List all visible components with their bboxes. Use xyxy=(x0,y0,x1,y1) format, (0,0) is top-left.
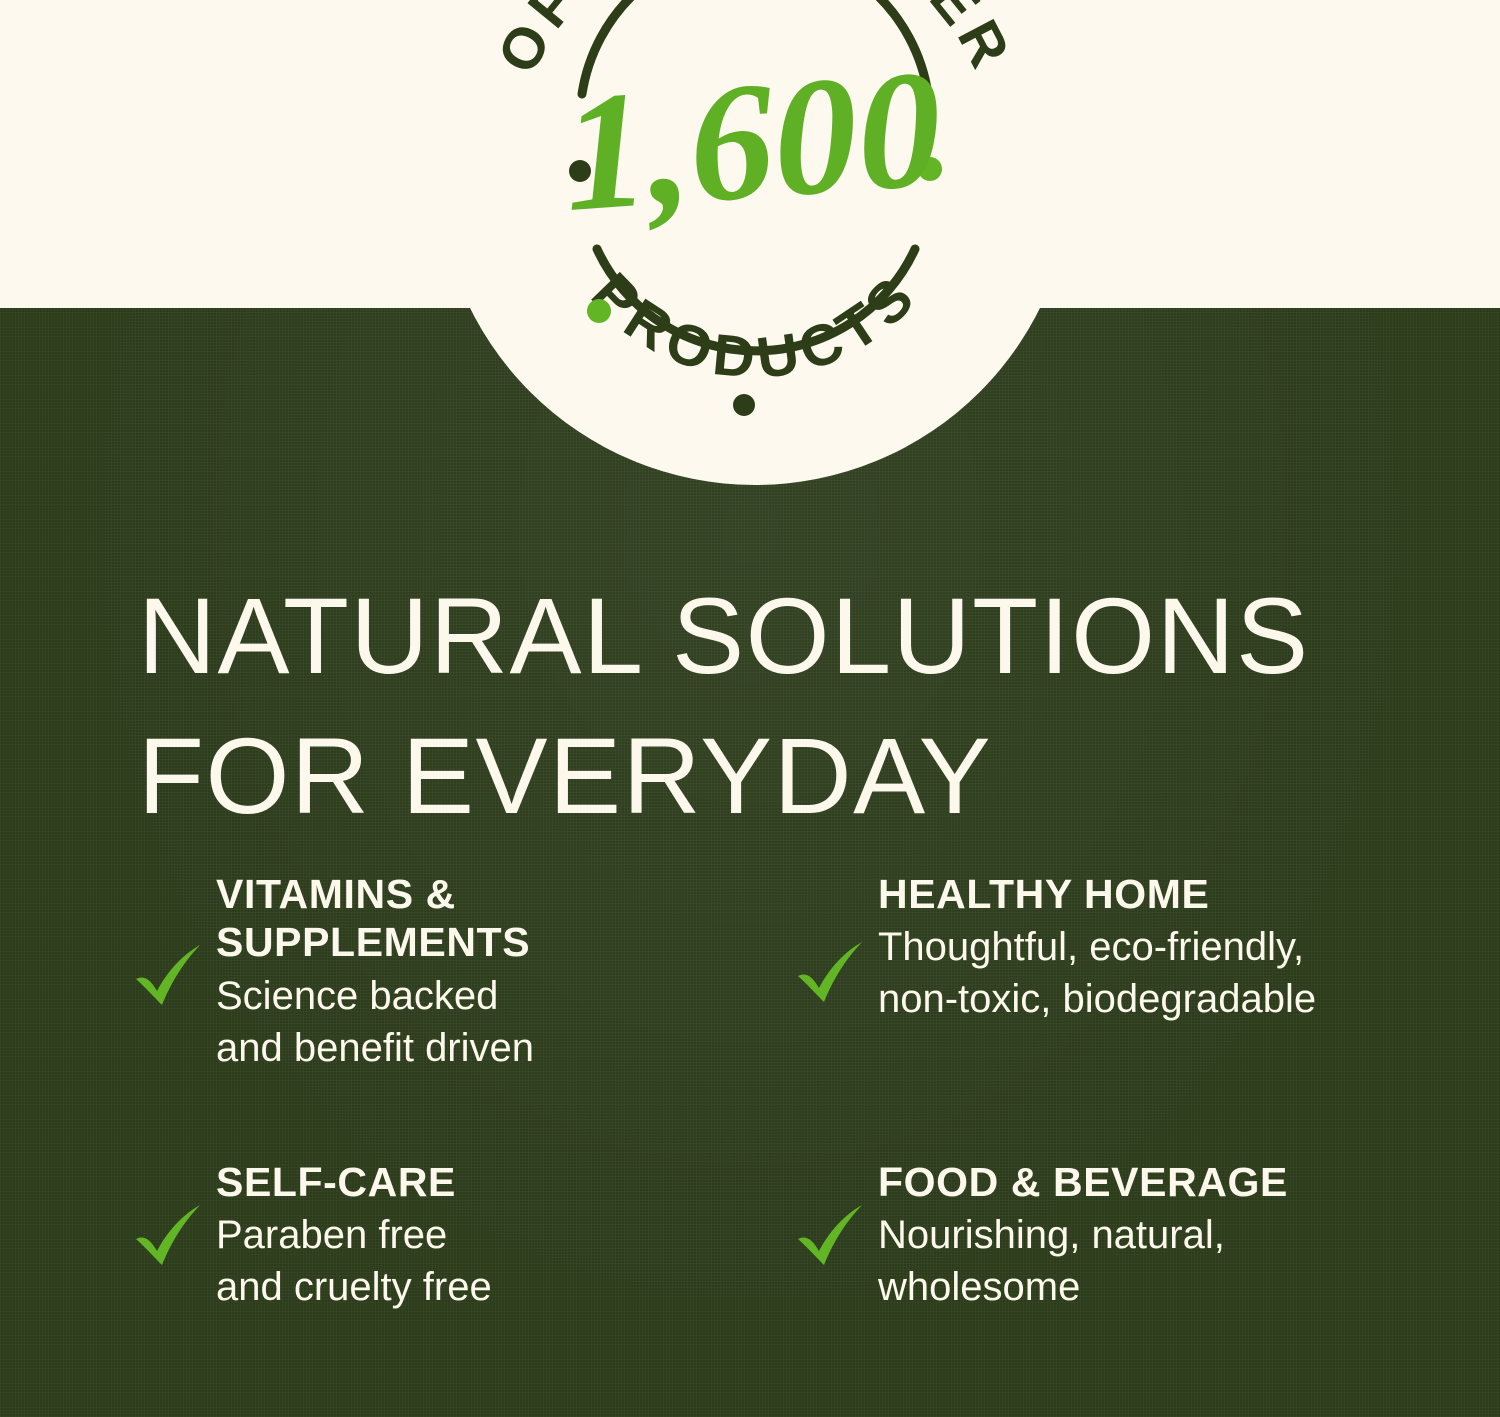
feature-desc-line-1: Paraben free xyxy=(216,1213,447,1257)
feature-title-food-beverage: FOOD & BEVERAGE xyxy=(878,1158,1460,1206)
feature-desc-line-2: and benefit driven xyxy=(216,1026,534,1070)
product-count-badge: OFFERING OVER PRODUCTS 1,600 xyxy=(437,0,1073,485)
feature-desc-food-beverage: Nourishing, natural, wholesome xyxy=(878,1209,1460,1313)
feature-title-line-2: SUPPLEMENTS xyxy=(216,919,530,965)
feature-desc-healthy-home: Thoughtful, eco-friendly, non-toxic, bio… xyxy=(878,921,1460,1025)
feature-desc-line-1: Thoughtful, eco-friendly, xyxy=(878,925,1304,969)
page-title: NATURAL SOLUTIONS FOR EVERYDAY xyxy=(138,566,1408,847)
feature-text-food-beverage: FOOD & BEVERAGE Nourishing, natural, who… xyxy=(878,1156,1460,1313)
feature-desc-vitamins: Science backed and benefit driven xyxy=(216,970,792,1074)
feature-title-vitamins: VITAMINS & SUPPLEMENTS xyxy=(216,870,792,967)
check-icon-wrap-healthy-home xyxy=(792,936,878,1010)
marketing-poster: OFFERING OVER PRODUCTS 1,600 NATURAL SOL… xyxy=(0,0,1500,1417)
headline-line-2: FOR EVERYDAY xyxy=(138,706,1408,846)
feature-desc-line-2: and cruelty free xyxy=(216,1265,492,1309)
feature-item-healthy-home: HEALTHY HOME Thoughtful, eco-friendly, n… xyxy=(792,868,1460,1074)
feature-desc-line-1: Nourishing, natural, xyxy=(878,1213,1225,1257)
check-icon xyxy=(792,936,872,1010)
check-icon xyxy=(130,1199,210,1273)
badge-number: 1,600 xyxy=(557,35,947,247)
check-icon xyxy=(130,939,210,1013)
feature-desc-line-2: wholesome xyxy=(878,1265,1080,1309)
feature-desc-line-1: Science backed xyxy=(216,974,498,1018)
badge-dot-icon-left xyxy=(587,299,611,323)
feature-desc-line-2: non-toxic, biodegradable xyxy=(878,977,1316,1021)
feature-item-vitamins-supplements: VITAMINS & SUPPLEMENTS Science backed an… xyxy=(130,868,792,1074)
feature-text-self-care: SELF-CARE Paraben free and cruelty free xyxy=(216,1156,792,1313)
headline-line-1: NATURAL SOLUTIONS xyxy=(138,566,1408,706)
feature-title-healthy-home: HEALTHY HOME xyxy=(878,870,1460,918)
check-icon xyxy=(792,1199,872,1273)
check-icon-wrap-self-care xyxy=(130,1199,216,1273)
feature-item-self-care: SELF-CARE Paraben free and cruelty free xyxy=(130,1156,792,1313)
check-icon-wrap-vitamins xyxy=(130,939,216,1013)
badge-bottom-arc-label: PRODUCTS xyxy=(579,261,931,392)
feature-list: VITAMINS & SUPPLEMENTS Science backed an… xyxy=(130,868,1460,1313)
feature-item-food-beverage: FOOD & BEVERAGE Nourishing, natural, who… xyxy=(792,1156,1460,1313)
feature-text-vitamins: VITAMINS & SUPPLEMENTS Science backed an… xyxy=(216,868,792,1074)
feature-text-healthy-home: HEALTHY HOME Thoughtful, eco-friendly, n… xyxy=(878,868,1460,1025)
feature-title-line-1: VITAMINS & xyxy=(216,871,456,917)
badge-dot-icon-bottom xyxy=(733,394,755,416)
feature-desc-self-care: Paraben free and cruelty free xyxy=(216,1209,792,1313)
check-icon-wrap-food-beverage xyxy=(792,1199,878,1273)
feature-title-self-care: SELF-CARE xyxy=(216,1158,792,1206)
